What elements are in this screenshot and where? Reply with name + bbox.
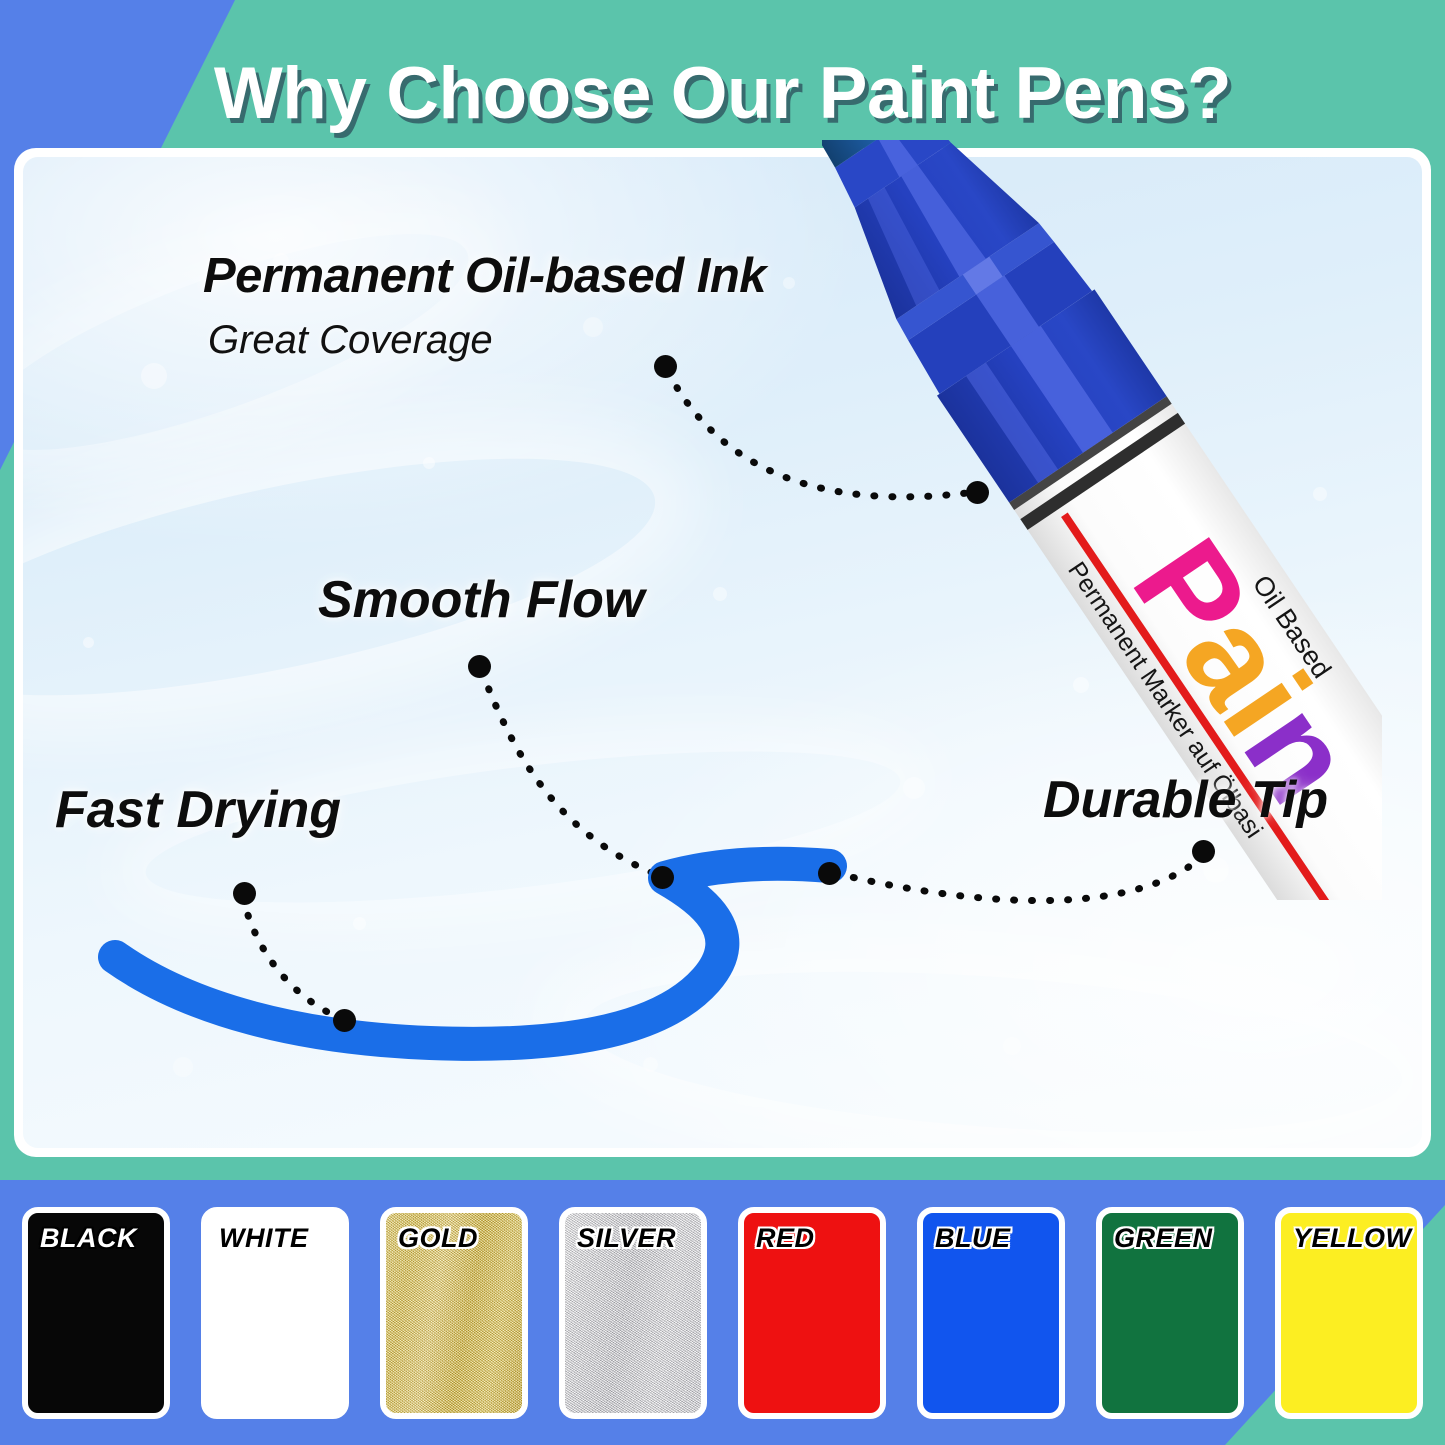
swatch-label-white: WHITE xyxy=(219,1223,309,1254)
swatch-red[interactable]: RED xyxy=(738,1207,886,1419)
infographic-canvas: Why Choose Our Paint Pens? xyxy=(0,0,1445,1445)
swatch-label-blue: BLUE xyxy=(935,1223,1011,1254)
bokeh-dot xyxy=(643,1057,658,1072)
bokeh-dot xyxy=(583,317,603,337)
page-title: Why Choose Our Paint Pens? xyxy=(0,52,1445,135)
leader-dot-tip-end xyxy=(818,862,841,885)
swatch-silver[interactable]: SILVER xyxy=(559,1207,707,1419)
feature-label-durable-tip: Durable Tip xyxy=(1043,770,1328,830)
feature-label-smooth-flow: Smooth Flow xyxy=(318,570,644,630)
swatch-white[interactable]: WHITE xyxy=(201,1207,349,1419)
leader-dot-flow-end xyxy=(651,866,674,889)
leader-dot-ink-start xyxy=(654,355,677,378)
leader-dot-tip-start xyxy=(1192,840,1215,863)
swatch-label-black: BLACK xyxy=(40,1223,137,1254)
bokeh-dot xyxy=(1073,677,1089,693)
bokeh-dot xyxy=(713,587,727,601)
bokeh-dot xyxy=(1313,487,1327,501)
leader-dot-fast-end xyxy=(333,1009,356,1032)
swatch-green[interactable]: GREEN xyxy=(1096,1207,1244,1419)
bokeh-dot xyxy=(423,457,435,469)
decorative-swoosh xyxy=(579,949,1407,1148)
swatch-label-silver: SILVER xyxy=(577,1223,676,1254)
swatch-label-red: RED xyxy=(756,1223,815,1254)
bokeh-dot xyxy=(141,363,167,389)
feature-label-fast-drying: Fast Drying xyxy=(55,780,341,840)
leader-dot-flow-start xyxy=(468,655,491,678)
bokeh-dot xyxy=(1003,1037,1021,1055)
main-panel xyxy=(23,157,1422,1148)
swatch-black[interactable]: BLACK xyxy=(22,1207,170,1419)
feature-label-permanent-ink: Permanent Oil-based Ink xyxy=(203,248,766,304)
bokeh-dot xyxy=(173,1057,193,1077)
swatch-gold[interactable]: GOLD xyxy=(380,1207,528,1419)
swatch-yellow[interactable]: YELLOW xyxy=(1275,1207,1423,1419)
bokeh-dot xyxy=(783,277,795,289)
feature-sublabel-great-coverage: Great Coverage xyxy=(208,318,493,363)
bokeh-dot xyxy=(83,637,94,648)
leader-dot-fast-start xyxy=(233,882,256,905)
leader-dot-ink-end xyxy=(966,481,989,504)
swatch-label-gold: GOLD xyxy=(398,1223,478,1254)
swatch-label-yellow: YELLOW xyxy=(1293,1223,1412,1254)
swatch-label-green: GREEN xyxy=(1114,1223,1213,1254)
bokeh-dot xyxy=(353,917,366,930)
swatch-blue[interactable]: BLUE xyxy=(917,1207,1065,1419)
color-swatch-row: BLACK WHITE GOLD SILVER RED BLUE GREEN Y… xyxy=(0,1180,1445,1445)
bokeh-dot xyxy=(903,777,925,799)
